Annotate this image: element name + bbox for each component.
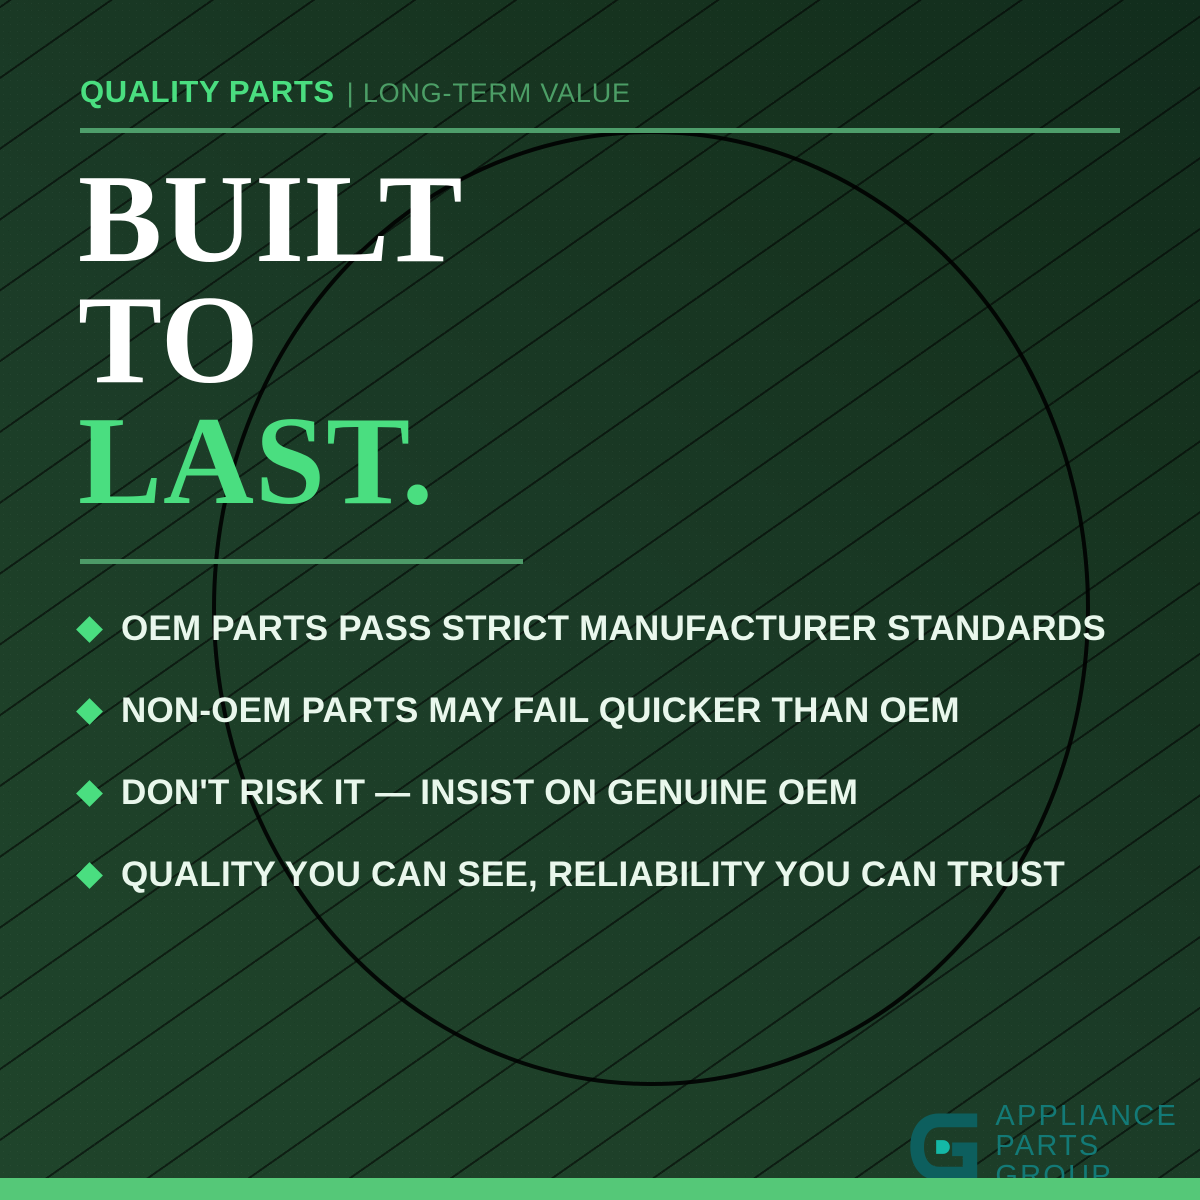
footer-accent-bar — [0, 1178, 1200, 1200]
headline-line-1: BUILT — [78, 160, 464, 281]
logo-word-line-1: APPLIANCE — [995, 1102, 1178, 1132]
diamond-bullet-icon — [76, 862, 103, 889]
list-item: NON-OEM PARTS MAY FAIL QUICKER THAN OEM — [80, 670, 1150, 752]
benefits-list: OEM PARTS PASS STRICT MANUFACTURER STAND… — [80, 588, 1150, 916]
diamond-bullet-icon — [76, 616, 103, 643]
diamond-bullet-icon — [76, 698, 103, 725]
logo-word-line-2: PARTS — [995, 1132, 1178, 1162]
kicker-line: QUALITY PARTS | LONG-TERM VALUE — [80, 74, 631, 110]
list-item-label: NON-OEM PARTS MAY FAIL QUICKER THAN OEM — [121, 691, 960, 731]
list-item-label: QUALITY YOU CAN SEE, RELIABILITY YOU CAN… — [121, 855, 1065, 895]
list-item-label: OEM PARTS PASS STRICT MANUFACTURER STAND… — [121, 609, 1106, 649]
header-divider-rule — [80, 128, 1120, 133]
kicker-primary-text: QUALITY PARTS — [80, 74, 335, 110]
list-item-label: DON'T RISK IT — INSIST ON GENUINE OEM — [121, 773, 858, 813]
list-item: DON'T RISK IT — INSIST ON GENUINE OEM — [80, 752, 1150, 834]
poster-canvas: QUALITY PARTS | LONG-TERM VALUE BUILT TO… — [0, 0, 1200, 1200]
kicker-separator: | — [347, 78, 355, 108]
list-item: QUALITY YOU CAN SEE, RELIABILITY YOU CAN… — [80, 834, 1150, 916]
headline-line-3: LAST. — [78, 402, 464, 523]
letter-g-logo-mark-icon — [905, 1109, 981, 1185]
headline-line-2: TO — [78, 281, 464, 402]
kicker-secondary-text: | LONG-TERM VALUE — [347, 78, 631, 109]
kicker-subtitle-text: LONG-TERM VALUE — [363, 78, 631, 108]
list-item: OEM PARTS PASS STRICT MANUFACTURER STAND… — [80, 588, 1150, 670]
headline-divider-rule — [80, 559, 523, 564]
diamond-bullet-icon — [76, 780, 103, 807]
page-title: BUILT TO LAST. — [78, 160, 464, 523]
